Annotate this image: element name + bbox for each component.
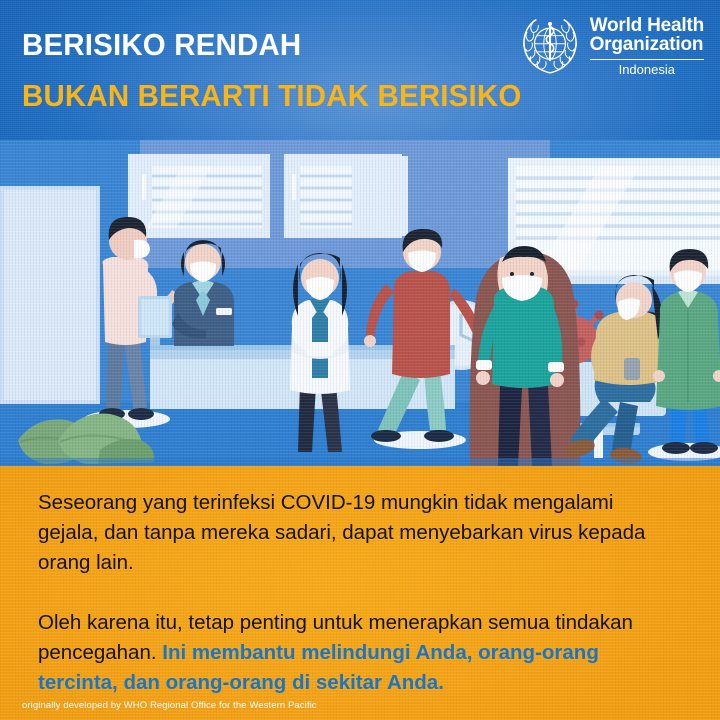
poster-header: BERISIKO RENDAH BUKAN BERARTI TIDAK BERI… xyxy=(0,0,720,140)
figure-hooded-infected-person xyxy=(470,246,581,466)
message-panel: Seseorang yang terinfeksi COVID-19 mungk… xyxy=(0,466,720,720)
who-name-line1: World Health xyxy=(590,16,704,35)
who-divider xyxy=(590,59,704,60)
headline-secondary: BUKAN BERARTI TIDAK BERISIKO xyxy=(22,78,521,114)
credit-line: originally developed by WHO Regional Off… xyxy=(22,700,317,711)
paragraph-one: Seseorang yang terinfeksi COVID-19 mungk… xyxy=(38,488,678,578)
desk-monitor xyxy=(138,296,172,345)
who-wordmark: World Health Organization Indonesia xyxy=(590,14,704,76)
who-name-line2: Organization xyxy=(590,35,704,54)
paragraph-two: Oleh karena itu, tetap penting untuk men… xyxy=(38,608,678,698)
who-emblem-icon xyxy=(519,14,581,76)
who-country-label: Indonesia xyxy=(590,63,704,76)
paragraph-spacer xyxy=(38,578,678,608)
who-covid-poster: BERISIKO RENDAH BUKAN BERARTI TIDAK BERI… xyxy=(0,0,720,720)
who-logo: World Health Organization Indonesia xyxy=(519,14,704,76)
clinic-scene-graphic xyxy=(0,140,720,466)
message-text-block: Seseorang yang terinfeksi COVID-19 mungk… xyxy=(38,488,678,698)
clinic-illustration xyxy=(0,140,720,466)
headline-primary: BERISIKO RENDAH xyxy=(22,27,301,63)
